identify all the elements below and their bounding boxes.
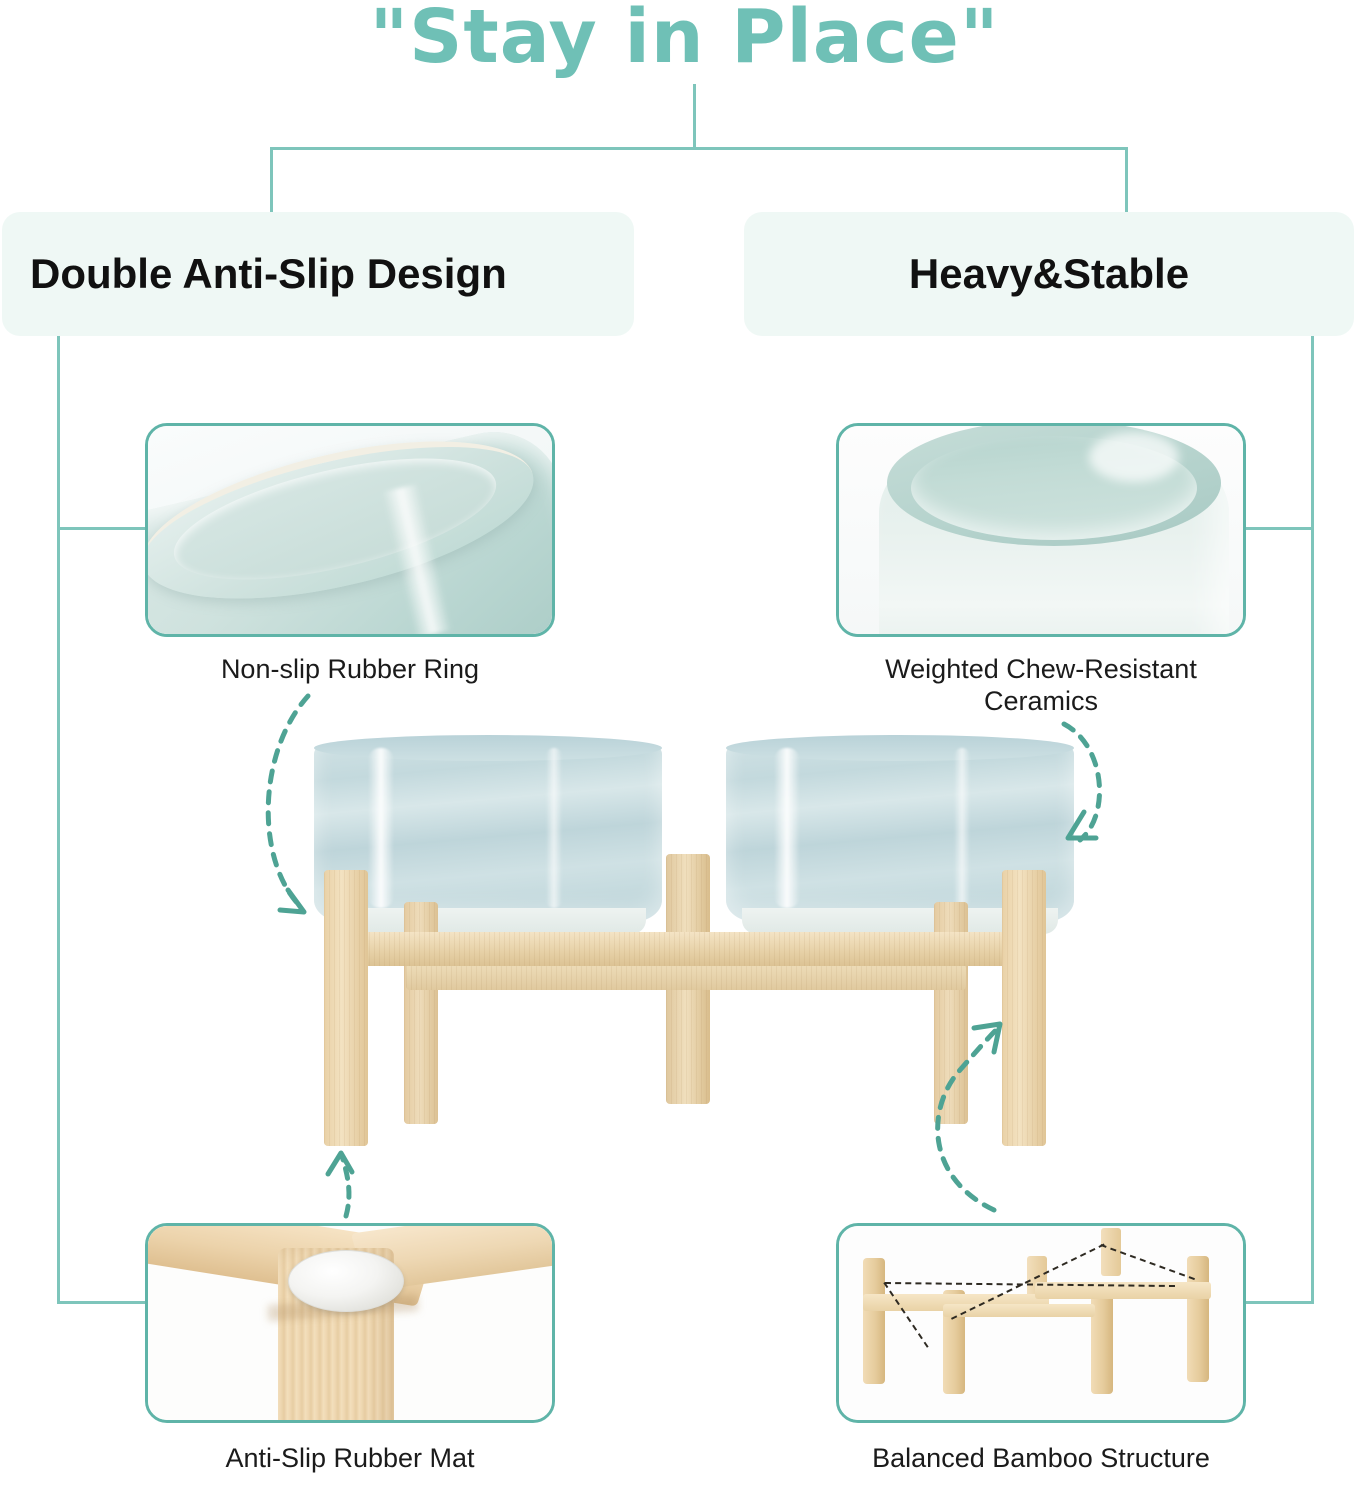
connector-top-bar [270, 147, 1128, 150]
photo-frame-weighted-chew-resistant-ceramics [836, 423, 1246, 637]
photo-ceramic-bowl-underside-rim [148, 426, 552, 634]
photo-bamboo-leg-with-rubber-pad [148, 1226, 552, 1420]
caption-balanced-bamboo-structure: Balanced Bamboo Structure [836, 1443, 1246, 1475]
photo-bamboo-stand-balance-diagram [839, 1226, 1243, 1420]
heading-pill-heavy-stable: Heavy&Stable [744, 212, 1354, 336]
connector-right-rail [1311, 336, 1314, 1304]
bamboo-rail-lower [406, 964, 966, 990]
connector-left-rail [57, 336, 60, 1304]
caption-anti-slip-rubber-mat: Anti-Slip Rubber Mat [145, 1443, 555, 1475]
connector-left-branch-top [57, 527, 149, 530]
bamboo-rail-upper [324, 932, 1046, 966]
caption-weighted-chew-resistant-ceramics: Weighted Chew-Resistant Ceramics [826, 654, 1256, 718]
heading-label-right: Heavy&Stable [744, 250, 1354, 298]
infographic-page: "Stay in Place" Double Anti-Slip Design … [0, 0, 1369, 1500]
photo-ceramic-bowl-interior [839, 426, 1243, 634]
heading-pill-double-anti-slip-design: Double Anti-Slip Design [2, 212, 634, 336]
connector-left-branch-bottom [57, 1301, 149, 1304]
photo-frame-anti-slip-rubber-mat [145, 1223, 555, 1423]
connector-right-drop [1125, 147, 1128, 217]
photo-frame-non-slip-rubber-ring [145, 423, 555, 637]
hero-product-elevated-double-pet-bowl-set [286, 736, 1086, 1166]
connector-left-drop [270, 147, 273, 217]
connector-title-stem [693, 84, 696, 150]
caption-non-slip-rubber-ring: Non-slip Rubber Ring [145, 654, 555, 686]
photo-frame-balanced-bamboo-structure [836, 1223, 1246, 1423]
connector-right-branch-top [1242, 527, 1314, 530]
bamboo-leg-right-front [1002, 870, 1046, 1146]
page-title: "Stay in Place" [0, 0, 1369, 80]
heading-label-left: Double Anti-Slip Design [2, 250, 634, 298]
bamboo-leg-left-front [324, 870, 368, 1146]
connector-right-branch-bottom [1242, 1301, 1314, 1304]
